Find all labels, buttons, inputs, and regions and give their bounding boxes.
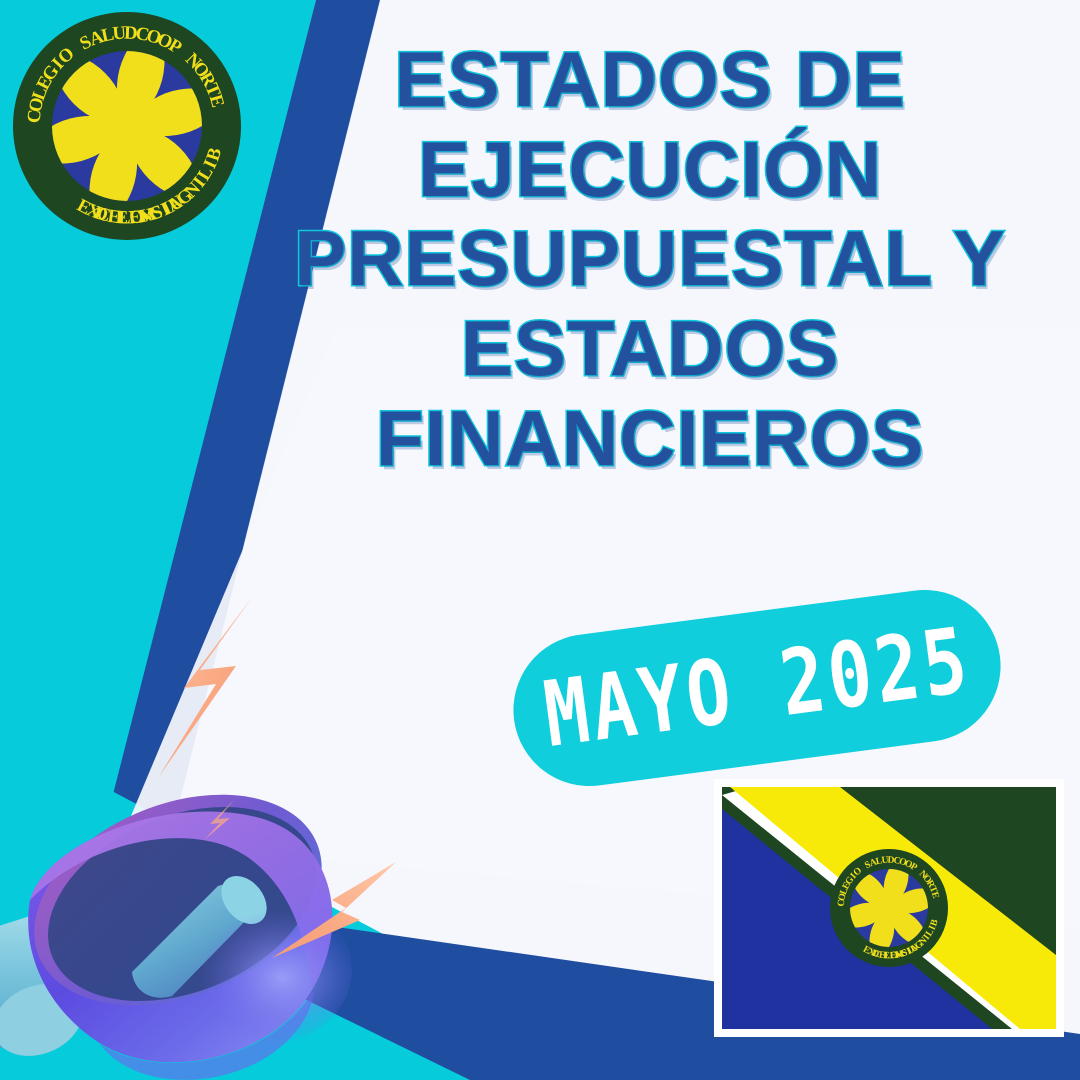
seal-ring-char: E <box>929 891 941 900</box>
seal-ring-char: E <box>115 207 129 230</box>
school-seal-logo: COLEGIO SALUDCOOP NORTEEXCELENCIABILINGU… <box>13 12 241 240</box>
seal-ring-char: E <box>883 950 890 961</box>
flag-canvas: COLEGIO SALUDCOOP NORTEEXCELENCIABILINGU… <box>722 787 1056 1029</box>
seal-ring-text: COLEGIO SALUDCOOP NORTEEXCELENCIABILINGU… <box>13 12 241 240</box>
title-line-1: ESTADOS DE <box>250 42 1050 118</box>
date-badge-label: MAYO 2025 <box>538 608 976 768</box>
lightning-bolt-icon <box>200 798 242 842</box>
title-line-5: FINANCIEROS <box>250 401 1050 477</box>
poster-title: ESTADOS DE EJECUCIÓN PRESUPUESTAL Y ESTA… <box>250 42 1050 490</box>
school-flag-photo: COLEGIO SALUDCOOP NORTEEXCELENCIABILINGU… <box>714 779 1064 1037</box>
title-line-4: ESTADOS <box>250 311 1050 387</box>
lightning-bolt-icon <box>140 592 270 782</box>
lightning-bolt-icon <box>268 858 400 968</box>
seal-ring-text: COLEGIO SALUDCOOP NORTEEXCELENCIABILINGU… <box>830 849 948 967</box>
flag-seal-logo: COLEGIO SALUDCOOP NORTEEXCELENCIABILINGU… <box>830 849 948 967</box>
poster-canvas: COLEGIO SALUDCOOP NORTEEXCELENCIABILINGU… <box>0 0 1080 1080</box>
title-line-3: PRESUPUESTAL Y <box>250 221 1050 297</box>
title-line-2: EJECUCIÓN <box>250 132 1050 208</box>
